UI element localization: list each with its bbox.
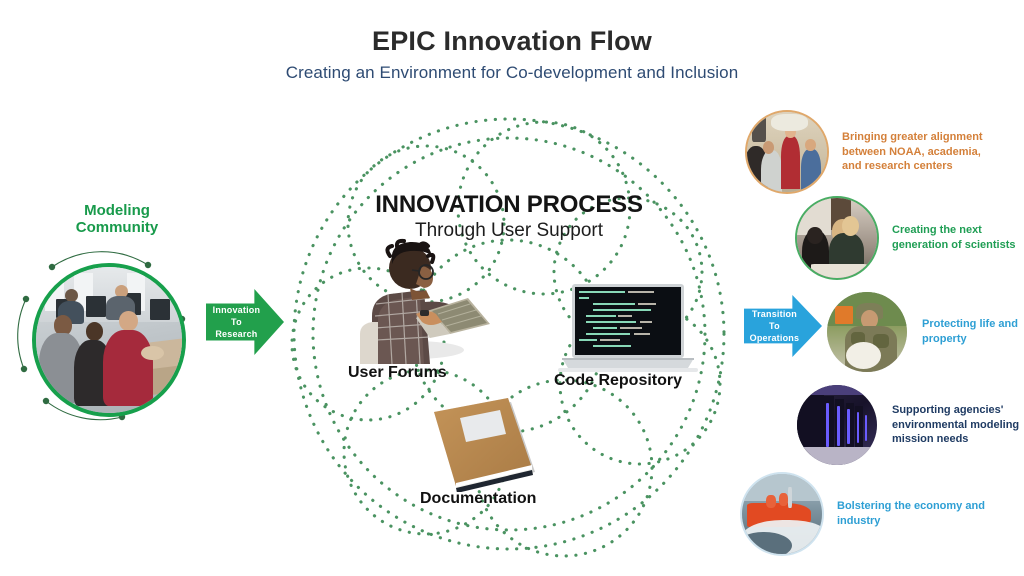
outcome-item-alignment: Bringing greater alignment between NOAA,…	[745, 110, 1002, 194]
modeling-community-photo	[32, 263, 186, 417]
arrow-innovation-to-research-label: Innovation To Research	[213, 304, 261, 340]
node-label-documentation: Documentation	[420, 490, 536, 508]
infographic-canvas: EPIC Innovation Flow Creating an Environ…	[0, 0, 1024, 576]
outcome-text-protecting-life: Protecting life and property	[922, 317, 1024, 346]
node-label-user-forums: User Forums	[348, 364, 447, 382]
outcome-item-bolstering-economy: Bolstering the economy and industry	[740, 472, 997, 556]
modeling-community-label: Modeling Community	[52, 202, 182, 237]
modeling-community-photo-group	[22, 253, 188, 419]
outcome-photo-lab-tour	[745, 110, 829, 194]
outcome-photo-students	[795, 196, 879, 280]
outcome-text-supporting-agencies: Supporting agencies' environmental model…	[892, 403, 1024, 447]
arrow-label-line3: Operations	[750, 333, 800, 343]
arrow-label-line2: To	[769, 321, 780, 331]
innovation-process-cluster: INNOVATION PROCESS Through User Support	[276, 96, 742, 566]
modeling-community-label-line2: Community	[76, 219, 159, 236]
page-title: EPIC Innovation Flow	[0, 26, 1024, 57]
outcome-text-alignment: Bringing greater alignment between NOAA,…	[842, 130, 1002, 174]
outcome-item-protecting-life: Protecting life and property	[825, 290, 1024, 374]
outcome-photo-rescue-boat	[740, 472, 824, 556]
outcome-photo-soldier	[825, 290, 909, 374]
arrow-label-line1: Innovation	[213, 305, 261, 315]
arrow-transition-to-operations-label: Transition To Operations	[750, 308, 800, 344]
user-forums-photo	[338, 238, 498, 364]
code-repository-photo	[558, 282, 698, 378]
arrow-transition-to-operations: Transition To Operations	[744, 295, 822, 357]
arrow-label-line2: To	[231, 317, 242, 327]
outcome-item-supporting-agencies: Supporting agencies' environmental model…	[795, 383, 1024, 467]
arrow-label-line1: Transition	[752, 309, 797, 319]
modeling-community-label-line1: Modeling	[84, 202, 150, 219]
outcome-photo-supercomputer	[795, 383, 879, 467]
node-label-code-repository: Code Repository	[554, 372, 682, 390]
outcome-item-next-generation: Creating the next generation of scientis…	[795, 196, 1024, 280]
page-subtitle: Creating an Environment for Co-developme…	[0, 63, 1024, 83]
outcome-text-next-generation: Creating the next generation of scientis…	[892, 223, 1024, 252]
outcome-text-bolstering-economy: Bolstering the economy and industry	[837, 499, 997, 528]
arrow-label-line3: Research	[215, 329, 257, 339]
documentation-photo	[416, 392, 546, 492]
innovation-process-title: INNOVATION PROCESS	[276, 191, 742, 219]
arrow-innovation-to-research: Innovation To Research	[206, 289, 284, 355]
